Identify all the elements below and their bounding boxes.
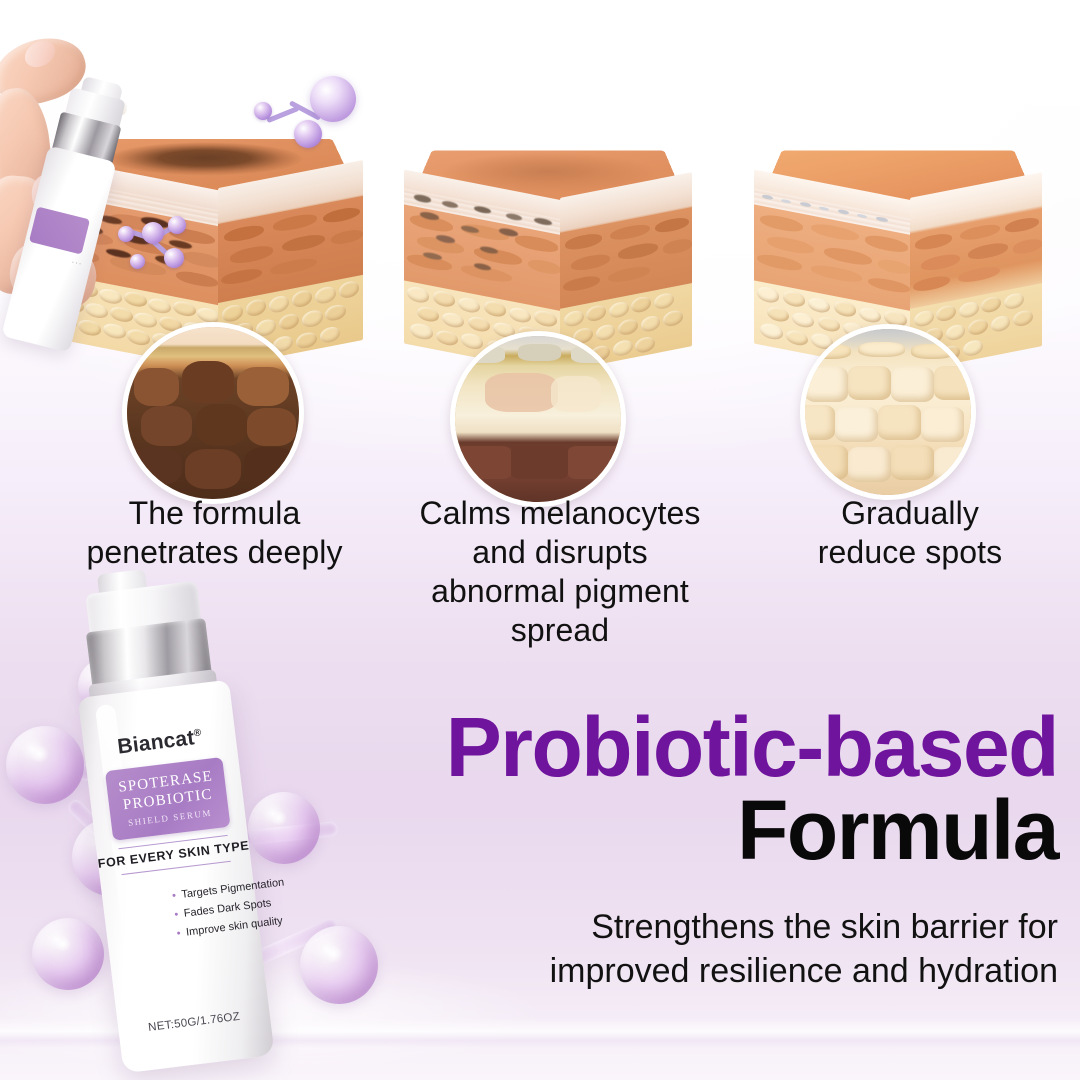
molecule-icon xyxy=(238,80,358,160)
magnifier-circle-icon xyxy=(800,324,976,500)
headline-line-2: Formula xyxy=(298,788,1058,874)
magnifier-circle-icon xyxy=(450,331,626,507)
headline-line-1: Probiotic-based xyxy=(298,706,1058,788)
panel-2-caption-line-3: abnormal pigment xyxy=(395,572,725,611)
infographic-canvas: · · · The formula penetrates deeply Calm… xyxy=(0,0,1080,1080)
hand-holding-bottle-icon: · · · xyxy=(0,34,198,364)
panel-3-caption: Gradually reduce spots xyxy=(760,494,1060,572)
panel-2-caption-line-2: and disrupts xyxy=(395,533,725,572)
panel-1-caption: The formula penetrates deeply xyxy=(62,494,367,572)
panel-3-caption-line-1: Gradually xyxy=(760,494,1060,533)
subheadline-line-2: improved resilience and hydration xyxy=(258,950,1058,994)
skin-block-2 xyxy=(398,86,698,376)
panel-3-caption-line-2: reduce spots xyxy=(760,533,1060,572)
panel-2-caption-line-1: Calms melanocytes xyxy=(395,494,725,533)
subheadline-line-1: Strengthens the skin barrier for xyxy=(258,906,1058,950)
subheadline: Strengthens the skin barrier for improve… xyxy=(258,906,1058,993)
panel-1-caption-line-2: penetrates deeply xyxy=(62,533,367,572)
panel-2-caption: Calms melanocytes and disrupts abnormal … xyxy=(395,494,725,650)
skin-block-3 xyxy=(748,86,1048,376)
product-label-badge: SPOTERASE PROBIOTIC SHIELD SERUM xyxy=(105,757,231,841)
panel-1-caption-line-1: The formula xyxy=(62,494,367,533)
registered-mark: ® xyxy=(193,727,202,739)
panel-2-caption-line-4: spread xyxy=(395,611,725,650)
headline: Probiotic-based Formula xyxy=(298,706,1058,874)
